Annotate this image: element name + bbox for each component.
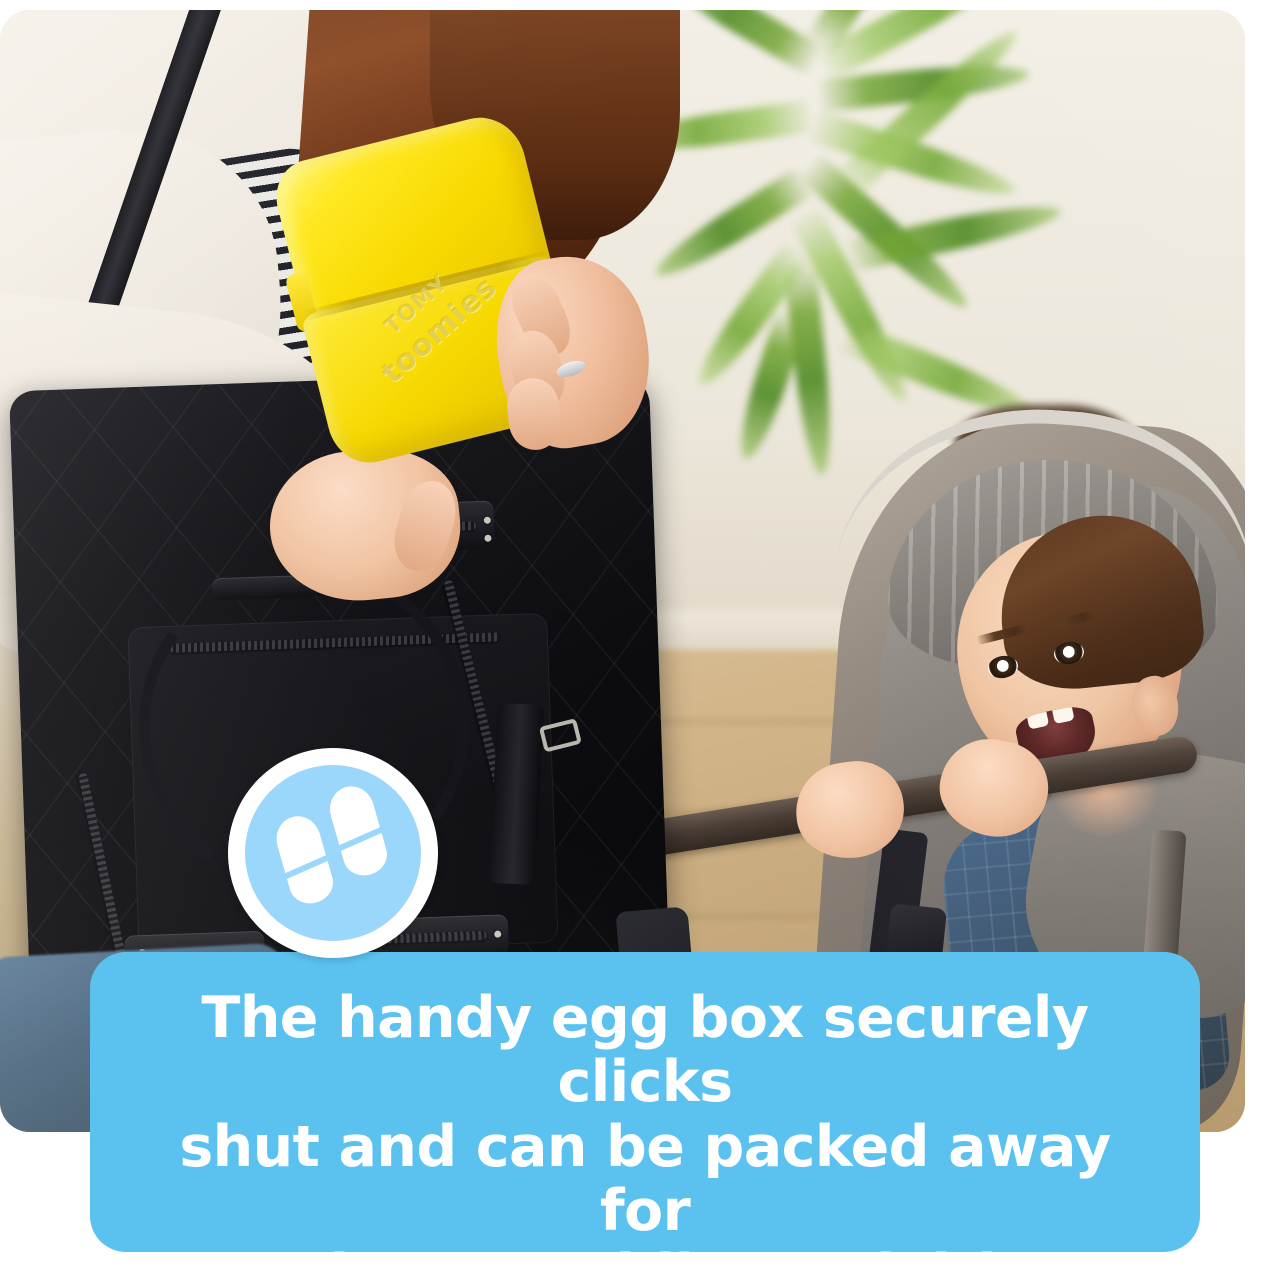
baby-footprints-badge: [228, 748, 438, 958]
caption-banner: The handy egg box securely clicks shut a…: [90, 952, 1200, 1252]
badge-disc: [245, 765, 421, 941]
caption-text: The handy egg box securely clicks shut a…: [125, 986, 1165, 1280]
baby-footprints-icon: [245, 765, 421, 941]
marketing-image-stage: TOMY toomies: [0, 0, 1280, 1280]
bag-strap-vertical: [489, 703, 544, 885]
